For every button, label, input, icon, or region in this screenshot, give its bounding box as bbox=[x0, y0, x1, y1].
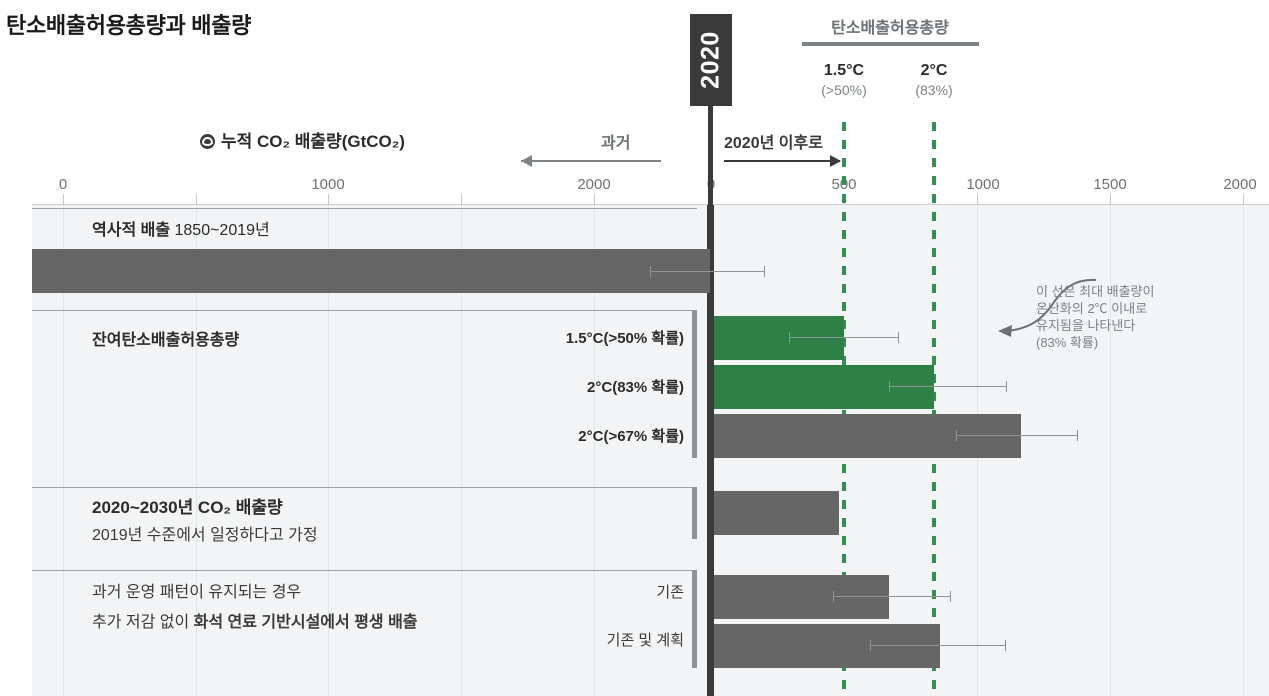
row-label-budget-2c-83: 2°C(83% 확률) bbox=[587, 376, 684, 397]
errorbar-cap-high bbox=[898, 332, 899, 343]
group-separator-remaining-budget bbox=[32, 310, 697, 311]
axis-label-right-1000: 1000 bbox=[966, 176, 999, 193]
tick-left-500 bbox=[196, 194, 197, 204]
axis-header: 누적 CO₂ 배출량(GtCO₂) bbox=[200, 127, 405, 152]
axis-label-right-2000: 2000 bbox=[1223, 176, 1256, 193]
group-title-2020-2030: 2020~2030년 CO₂ 배출량 bbox=[92, 493, 283, 518]
committed-line2-plain: 추가 저감 없이 bbox=[92, 614, 194, 631]
errorbar-budget-2c-67 bbox=[956, 435, 1078, 436]
row-label-committed-existing: 기존 bbox=[656, 581, 684, 602]
group-sublabel-2020-2030: 2019년 수준에서 일정하다고 가정 bbox=[92, 521, 318, 545]
budget-prob-1p5c: (>50%) bbox=[794, 82, 894, 98]
budget-column-1p5c: 1.5°C (>50%) bbox=[794, 62, 894, 98]
errorbar-cap-low bbox=[870, 640, 871, 651]
row-label-budget-2c-83-text: 2°C(83% 확률) bbox=[587, 379, 684, 396]
axis-baseline bbox=[32, 204, 1269, 205]
callout-text: 이 선은 최대 배출량이 온난화의 2℃ 이내로 유지됨을 나타낸다 (83% … bbox=[1036, 283, 1154, 351]
group-separator-2020-2030 bbox=[32, 487, 697, 488]
bar-committed-planned bbox=[714, 624, 940, 668]
errorbar-historical-emissions bbox=[650, 271, 765, 272]
threshold-line-2c bbox=[932, 122, 936, 696]
group-bracket-committed bbox=[692, 570, 697, 668]
row-label-budget-2c-67-text: 2°C(>67% 확률) bbox=[578, 428, 684, 445]
axis-label-right-1500: 1500 bbox=[1093, 176, 1126, 193]
errorbar-cap-low bbox=[789, 332, 790, 343]
tick-left-1500 bbox=[461, 194, 462, 204]
errorbar-committed-planned bbox=[870, 645, 1006, 646]
bar-budget-1p5c-50 bbox=[714, 316, 844, 360]
budget-header-title: 탄소배출허용총량 bbox=[805, 14, 975, 38]
group-title-committed-line2: 추가 저감 없이 화석 연료 기반시설에서 평생 배출 bbox=[92, 608, 418, 632]
errorbar-cap-low bbox=[889, 381, 890, 392]
errorbar-committed-existing bbox=[833, 596, 951, 597]
group-title-remaining-budget: 잔여탄소배출허용총량 bbox=[92, 326, 239, 350]
errorbar-cap-low bbox=[956, 430, 957, 441]
axis-label-left-1000: 1000 bbox=[311, 176, 344, 193]
group-title-historical-strong: 역사적 배출 bbox=[92, 222, 170, 239]
group-separator-historical bbox=[32, 208, 697, 209]
tick-left-1000 bbox=[328, 194, 329, 204]
errorbar-cap-high bbox=[1006, 381, 1007, 392]
row-label-budget-1p5c-50: 1.5°C(>50% 확률) bbox=[566, 327, 684, 348]
globe-icon bbox=[200, 134, 215, 149]
year-badge-stem bbox=[708, 104, 713, 205]
tick-left-2000 bbox=[594, 194, 595, 204]
tick-right-2000 bbox=[1243, 194, 1244, 204]
year-badge-2020: 2020 bbox=[690, 14, 732, 106]
tick-right-1000 bbox=[977, 194, 978, 204]
bar-budget-2c-83 bbox=[714, 365, 934, 409]
axis-header-label: 누적 CO₂ 배출량(GtCO₂) bbox=[221, 132, 405, 151]
errorbar-cap-high bbox=[1005, 640, 1006, 651]
group-bracket-remaining-budget bbox=[692, 310, 697, 458]
budget-temp-1p5c: 1.5°C bbox=[794, 62, 894, 80]
future-label: 2020년 이후로 bbox=[724, 129, 823, 153]
page-title: 탄소배출허용총량과 배출량 bbox=[6, 8, 251, 40]
budget-prob-2c: (83%) bbox=[884, 82, 984, 98]
gridline-right-1500 bbox=[1110, 205, 1111, 696]
row-label-committed-planned: 기존 및 계획 bbox=[607, 629, 684, 650]
bar-budget-2c-67 bbox=[714, 414, 1021, 458]
group-title-historical: 역사적 배출 1850~2019년 bbox=[92, 216, 270, 240]
year-badge-label: 2020 bbox=[697, 31, 726, 89]
budget-header-rule bbox=[802, 42, 979, 46]
tick-right-1500 bbox=[1110, 194, 1111, 204]
past-arrow-icon bbox=[521, 160, 661, 162]
errorbar-cap-low bbox=[833, 591, 834, 602]
bar-committed-existing bbox=[714, 575, 889, 619]
group-separator-committed bbox=[32, 570, 697, 571]
bar-historical-emissions bbox=[32, 249, 710, 293]
errorbar-cap-high bbox=[764, 266, 765, 277]
bar-emissions-2020-2030 bbox=[714, 491, 839, 535]
axis-label-left-2000: 2000 bbox=[577, 176, 610, 193]
budget-temp-2c: 2°C bbox=[884, 62, 984, 80]
group-title-historical-rest: 1850~2019년 bbox=[170, 222, 270, 239]
future-arrow-icon bbox=[724, 160, 840, 162]
row-label-budget-2c-67: 2°C(>67% 확률) bbox=[578, 425, 684, 446]
axis-label-left-0: 0 bbox=[59, 176, 67, 193]
gridline-right-2000 bbox=[1243, 205, 1244, 696]
errorbar-budget-2c-83 bbox=[889, 386, 1007, 387]
tick-left-0 bbox=[63, 194, 64, 204]
errorbar-cap-low bbox=[650, 266, 651, 277]
budget-column-2c: 2°C (83%) bbox=[884, 62, 984, 98]
errorbar-budget-1p5c-50 bbox=[789, 337, 899, 338]
errorbar-cap-high bbox=[950, 591, 951, 602]
past-label: 과거 bbox=[601, 129, 630, 153]
group-bracket-2020-2030 bbox=[692, 487, 697, 539]
group-title-committed-line1: 과거 운영 패턴이 유지되는 경우 bbox=[92, 578, 301, 602]
row-label-budget-1p5c-50-text: 1.5°C(>50% 확률) bbox=[566, 330, 684, 347]
committed-line2-strong: 화석 연료 기반시설에서 평생 배출 bbox=[194, 614, 418, 631]
errorbar-cap-high bbox=[1077, 430, 1078, 441]
